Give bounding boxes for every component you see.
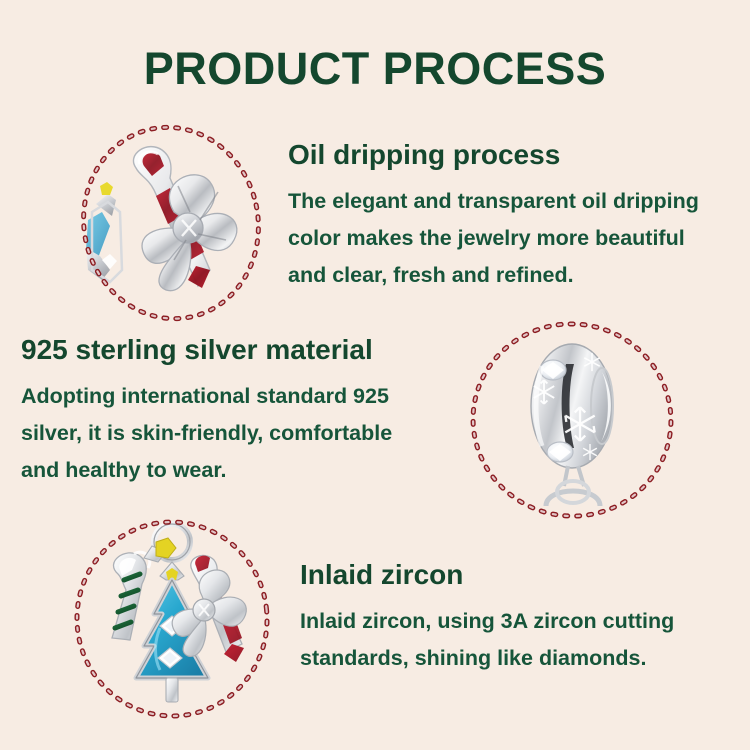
feature-text-sterling-silver: 925 sterling silver material Adopting in…	[21, 335, 481, 489]
product-image-inlaid-zircon	[74, 518, 272, 724]
feature-body-line: Inlaid zircon, using 3A zircon cutting	[300, 603, 750, 640]
page-title: PRODUCT PROCESS	[0, 46, 750, 91]
product-image-sterling-silver	[468, 320, 676, 524]
dashed-circle-border	[78, 120, 264, 326]
product-process-banner: PRODUCT PROCESS	[0, 0, 750, 750]
dashed-circle-border	[468, 320, 676, 524]
feature-heading-sterling-silver: 925 sterling silver material	[21, 335, 481, 364]
dashed-circle-border	[74, 518, 272, 724]
feature-heading-oil-dripping: Oil dripping process	[288, 140, 750, 169]
feature-body-line: The elegant and transparent oil dripping	[288, 183, 750, 220]
feature-text-inlaid-zircon: Inlaid zircon Inlaid zircon, using 3A zi…	[300, 560, 750, 677]
feature-body-line: and healthy to wear.	[21, 452, 481, 489]
feature-text-oil-dripping: Oil dripping process The elegant and tra…	[288, 140, 750, 294]
feature-body-line: color makes the jewelry more beautiful	[288, 220, 750, 257]
feature-heading-inlaid-zircon: Inlaid zircon	[300, 560, 750, 589]
feature-body-line: standards, shining like diamonds.	[300, 640, 750, 677]
product-image-oil-dripping	[78, 120, 264, 326]
feature-body-line: Adopting international standard 925	[21, 378, 481, 415]
feature-body-line: and clear, fresh and refined.	[288, 257, 750, 294]
feature-body-line: silver, it is skin-friendly, comfortable	[21, 415, 481, 452]
